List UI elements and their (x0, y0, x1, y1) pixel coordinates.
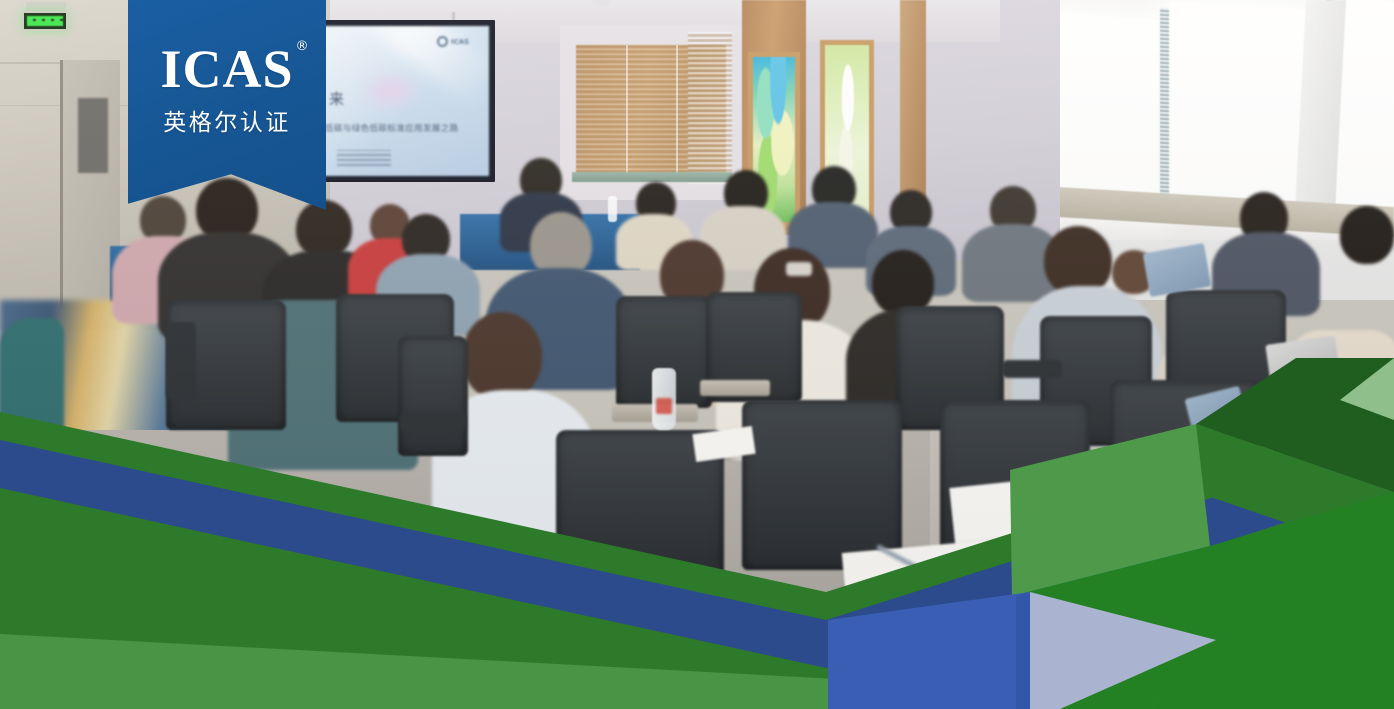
wall-fixture (78, 98, 108, 173)
office-chair (398, 336, 468, 456)
window-mullion (1160, 8, 1169, 209)
slide-logo-ring-icon (437, 36, 448, 47)
blind-divider (626, 45, 628, 175)
chair-armrest (400, 412, 466, 432)
person-head (1340, 206, 1394, 264)
slide-fine-print (337, 150, 391, 166)
emergency-lights-icon (26, 2, 66, 11)
slide-title: 来 (329, 88, 345, 109)
venetian-blinds-side (688, 32, 732, 184)
logo-content: ICAS ® 英格尔认证 (128, 42, 326, 137)
hair-clip (786, 262, 812, 276)
slide-logo-label: ICAS (451, 38, 469, 46)
chair-armrest (166, 322, 196, 400)
slide-logo: ICAS (437, 36, 479, 47)
logo-wordmark-text: ICAS (160, 39, 293, 99)
logo-chinese-name: 英格尔认证 (128, 103, 326, 137)
chair-armrest (1002, 360, 1062, 378)
registered-trademark-icon: ® (296, 40, 310, 53)
blind-divider (676, 45, 678, 175)
screen-glow (367, 78, 413, 104)
person-body (0, 318, 64, 438)
exit-sign-icon (22, 11, 68, 31)
person-head (462, 312, 542, 400)
water-bottle (608, 196, 617, 222)
logo-wordmark: ICAS ® (160, 42, 293, 96)
water-bottle (652, 368, 676, 430)
window-sill (572, 172, 732, 182)
window-pane (1336, 0, 1394, 214)
slide-subtitle: 低碳与绿色低碳标准应用发展之路 (325, 122, 459, 134)
projection-screen: ICAS 来 低碳与绿色低碳标准应用发展之路 (321, 26, 489, 176)
icas-event-banner: ICAS 来 低碳与绿色低碳标准应用发展之路 (0, 0, 1394, 709)
chair-tablet-arm (700, 380, 770, 396)
